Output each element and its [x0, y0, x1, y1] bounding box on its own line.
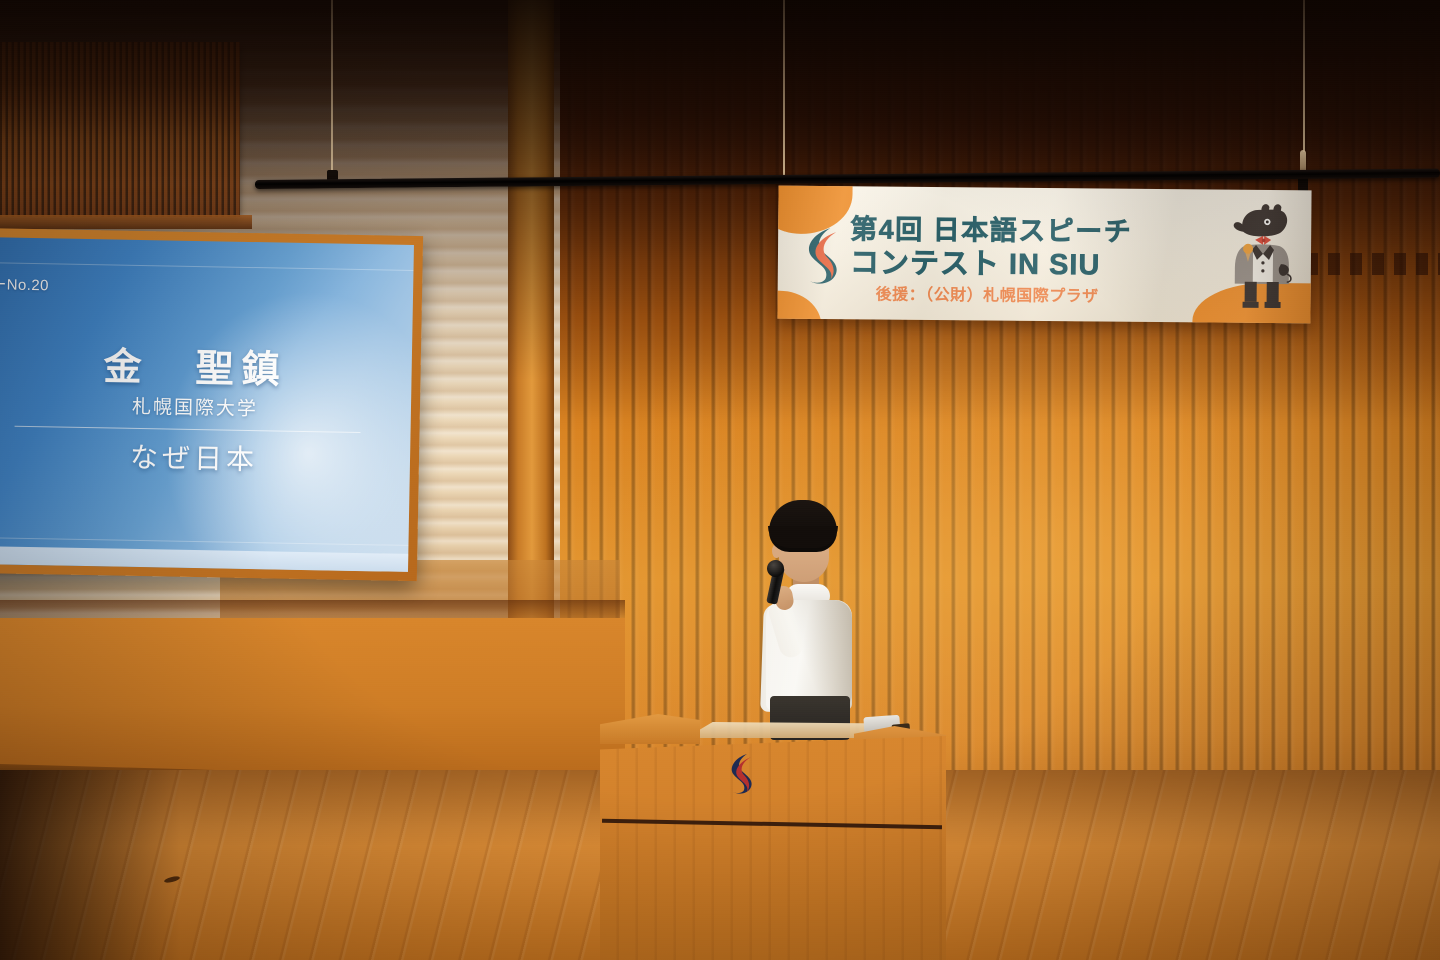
pilaster-shadow — [508, 0, 554, 380]
screen-hairline — [0, 537, 408, 546]
speaker-person — [744, 500, 874, 730]
hanging-wire — [331, 0, 333, 180]
stage-photo-scene: ントリーNo.20 金 聖鎮 札幌国際大学 なぜ日本 第4回 日本語スピーチ コ… — [0, 0, 1440, 960]
hanging-wire — [1303, 0, 1305, 152]
slide-entry-number: ントリーNo.20 — [0, 272, 49, 295]
banner-title-line-2: コンテスト IN SIU — [850, 239, 1242, 284]
podium-front-panel — [600, 736, 946, 960]
ceiling-soffit — [0, 215, 252, 229]
projection-screen: ントリーNo.20 金 聖鎮 札幌国際大学 なぜ日本 — [0, 237, 414, 572]
podium-left-wing — [600, 714, 700, 744]
ceiling-slat-panel — [0, 42, 240, 217]
contest-banner: 第4回 日本語スピーチ コンテスト IN SIU 後援：（公財）札幌国際プラザ — [777, 186, 1311, 324]
siu-s-logo — [722, 752, 758, 794]
projection-screen-frame: ントリーNo.20 金 聖鎮 札幌国際大学 なぜ日本 — [0, 228, 423, 581]
slide-speaker-name: 金 聖鎮 — [0, 333, 412, 396]
siu-s-logo — [796, 224, 845, 286]
speaker-hair-fringe — [768, 526, 838, 548]
rhino-mascot — [1222, 202, 1301, 315]
hanging-wire — [783, 0, 785, 182]
slide-speech-title: なぜ日本 — [0, 433, 410, 481]
banner-sponsor-line: 後援：（公財）札幌国際プラザ — [876, 281, 1216, 308]
screen-bottom-edge — [0, 546, 408, 572]
screen-hairline — [0, 262, 414, 271]
speaker-podium — [600, 700, 946, 960]
banner-accent-bottom-left — [777, 290, 821, 323]
lower-wainscot-wall — [0, 618, 625, 778]
slide-divider-rule — [15, 426, 361, 433]
